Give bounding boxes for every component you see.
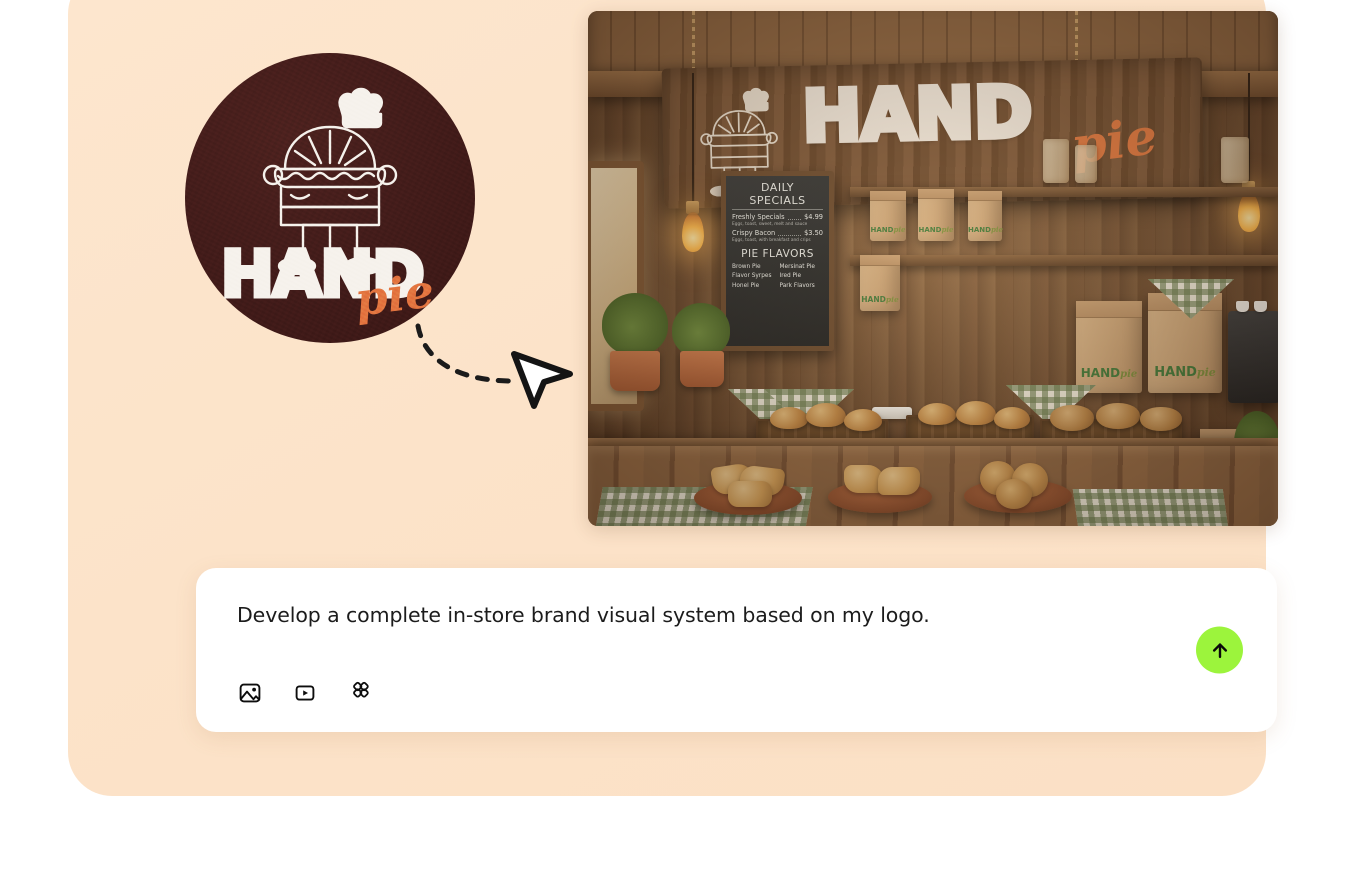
image-icon[interactable] <box>235 678 265 708</box>
sign-word-primary: HAND <box>802 77 1033 152</box>
bag-logo-text: HANDpie <box>860 296 900 304</box>
flavor-item: Ired Pie <box>780 272 824 280</box>
flavor-item: Flavor Syrpes <box>732 272 776 280</box>
gingham-cloth <box>1073 489 1229 526</box>
sign-chain-left <box>692 11 695 71</box>
store-paper-bag: HANDpie <box>870 191 906 241</box>
store-chalkboard-menu: DAILY SPECIALS Freshly Specials $4.99 Eg… <box>721 171 834 351</box>
arrow-up-icon <box>1209 639 1231 661</box>
store-paper-bag: HANDpie <box>860 255 900 311</box>
store-photo[interactable]: HAND pie DAILY SPECIALS Freshly Specials… <box>588 11 1278 526</box>
app-card: HAND pie <box>68 0 1266 796</box>
pastry <box>844 409 882 431</box>
store-jar <box>1075 145 1097 183</box>
pastry <box>806 403 846 427</box>
pastry-swirl <box>996 479 1032 509</box>
coffee-cup <box>1254 301 1267 312</box>
cursor-annotation <box>398 320 598 410</box>
store-jar <box>1043 139 1069 183</box>
chalkboard-special-row: Crispy Bacon $3.50 <box>732 229 823 238</box>
bag-logo-text: HANDpie <box>1148 366 1222 379</box>
store-paper-bag: HANDpie <box>918 189 954 241</box>
coffee-cup <box>1236 301 1249 312</box>
logo-word-secondary: pie <box>352 263 437 326</box>
prompt-card[interactable]: Develop a complete in-store brand visual… <box>196 568 1277 732</box>
logo-badge[interactable]: HAND pie <box>185 53 475 343</box>
prompt-toolbar <box>235 678 375 708</box>
pendant-bulb-right <box>1238 192 1260 232</box>
bag-logo-text: HANDpie <box>968 226 1002 234</box>
pastry <box>918 403 956 425</box>
pastry <box>770 407 808 429</box>
bread-loaf <box>1096 403 1140 429</box>
flavor-item: Mersinat Pie <box>780 263 824 271</box>
chalkboard-flavors-title: PIE FLAVORS <box>732 248 823 260</box>
plant-foliage <box>672 303 730 357</box>
pointer-cursor-icon <box>514 354 570 406</box>
prompt-input[interactable]: Develop a complete in-store brand visual… <box>237 603 930 627</box>
plant-pot <box>680 351 724 387</box>
special-price: $4.99 <box>804 213 823 222</box>
plant-pot <box>610 351 660 391</box>
pastry <box>994 407 1030 429</box>
special-name: Crispy Bacon <box>732 229 775 238</box>
bread-loaf <box>1140 407 1182 431</box>
flavor-item: Park Flavors <box>780 282 824 290</box>
store-paper-bag: HANDpie <box>968 191 1002 241</box>
special-name: Freshly Specials <box>732 213 785 222</box>
send-button[interactable] <box>1196 627 1243 674</box>
flavor-item: Brown Pie <box>732 263 776 271</box>
pendant-bulb-left <box>682 212 704 252</box>
espresso-machine <box>1228 311 1278 403</box>
store-shelf-mid <box>850 187 1278 197</box>
pendant-cord-left <box>692 73 694 203</box>
special-desc: Eggs, toast, with breakfast and crips <box>732 238 823 243</box>
apps-grid-icon[interactable] <box>345 678 375 708</box>
bread-loaf <box>1050 405 1094 431</box>
store-shelf-upper <box>850 255 1278 266</box>
hand-pie <box>728 481 772 507</box>
flavor-item: Honel Pie <box>732 282 776 290</box>
chalkboard-title: DAILY SPECIALS <box>732 181 823 210</box>
chalkboard-special-row: Freshly Specials $4.99 <box>732 213 823 222</box>
bag-logo-text: HANDpie <box>1076 367 1142 380</box>
pastry <box>956 401 996 425</box>
hand-pie <box>878 467 920 495</box>
special-price: $3.50 <box>804 229 823 238</box>
store-jar <box>1221 137 1249 183</box>
bag-logo-text: HANDpie <box>918 226 954 234</box>
video-icon[interactable] <box>290 678 320 708</box>
store-paper-bag-large: HANDpie <box>1076 301 1142 393</box>
plant-foliage <box>602 293 668 355</box>
special-desc: Eggs, toast, sweet, melt and sauce <box>732 222 823 227</box>
bag-logo-text: HANDpie <box>870 226 906 234</box>
sign-chain-right <box>1075 11 1078 63</box>
